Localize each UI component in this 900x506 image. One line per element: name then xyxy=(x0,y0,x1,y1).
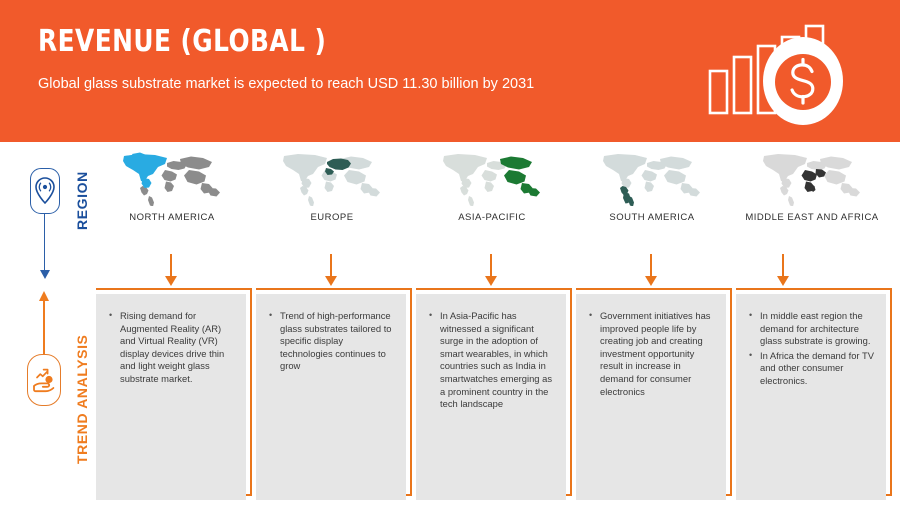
column-arrow-icon xyxy=(645,276,657,286)
column-arrow-icon xyxy=(485,276,497,286)
region-name-label: ASIA-PACIFIC xyxy=(412,212,572,223)
region-name-label: SOUTH AMERICA xyxy=(572,212,732,223)
insight-card: Trend of high-performance glass substrat… xyxy=(256,294,406,500)
column-arrow-line xyxy=(330,254,332,278)
insight-card: In middle east region the demand for arc… xyxy=(736,294,886,500)
region-name-label: NORTH AMERICA xyxy=(92,212,252,223)
column-arrow-line xyxy=(490,254,492,278)
column-arrow-icon xyxy=(777,276,789,286)
bar-chart-dollar-icon xyxy=(690,8,890,138)
list-item: In Asia-Pacific has witnessed a signific… xyxy=(440,310,554,411)
region-name-label: EUROPE xyxy=(252,212,412,223)
bullet-list: Trend of high-performance glass substrat… xyxy=(266,310,394,373)
world-map-asia-pacific-icon xyxy=(412,150,572,208)
world-map-south-america-icon xyxy=(572,150,732,208)
column-arrow-icon xyxy=(165,276,177,286)
list-item: Government initiatives has improved peop… xyxy=(600,310,714,398)
trend-connector-line xyxy=(43,300,45,356)
column-arrow-line xyxy=(782,254,784,278)
bullet-list: In Asia-Pacific has witnessed a signific… xyxy=(426,310,554,411)
world-map-europe-icon xyxy=(252,150,412,208)
region-rail: REGION xyxy=(14,150,92,280)
region-name-label: MIDDLE EAST AND AFRICA xyxy=(732,212,892,223)
header-subtitle: Global glass substrate market is expecte… xyxy=(38,74,598,95)
list-item: Trend of high-performance glass substrat… xyxy=(280,310,394,373)
world-map-north-america-icon xyxy=(92,150,252,208)
column-arrow-line xyxy=(650,254,652,278)
hand-holding-growth-icon xyxy=(27,354,61,406)
location-pin-icon xyxy=(30,168,60,214)
page-title: REVENUE (GLOBAL ) xyxy=(38,24,326,59)
region-rail-label: REGION xyxy=(74,140,90,230)
header-banner: REVENUE (GLOBAL ) Global glass substrate… xyxy=(0,0,900,142)
bullet-list: Rising demand for Augmented Reality (AR)… xyxy=(106,310,234,386)
list-item: In Africa the demand for TV and other co… xyxy=(760,350,874,388)
insight-card: In Asia-Pacific has witnessed a signific… xyxy=(416,294,566,500)
trend-rail-label: TREND ANALYSIS xyxy=(74,335,90,465)
region-connector-line xyxy=(44,214,45,274)
world-map-middle-east-africa-icon xyxy=(732,150,892,208)
insight-card: Rising demand for Augmented Reality (AR)… xyxy=(96,294,246,500)
bullet-list: In middle east region the demand for arc… xyxy=(746,310,874,388)
insight-card: Government initiatives has improved peop… xyxy=(576,294,726,500)
column-arrow-line xyxy=(170,254,172,278)
body-area: REGION TREND ANALYSIS xyxy=(0,142,900,506)
list-item: In middle east region the demand for arc… xyxy=(760,310,874,348)
column-arrow-icon xyxy=(325,276,337,286)
bullet-list: Government initiatives has improved peop… xyxy=(586,310,714,398)
list-item: Rising demand for Augmented Reality (AR)… xyxy=(120,310,234,386)
trend-rail: TREND ANALYSIS xyxy=(14,272,92,502)
